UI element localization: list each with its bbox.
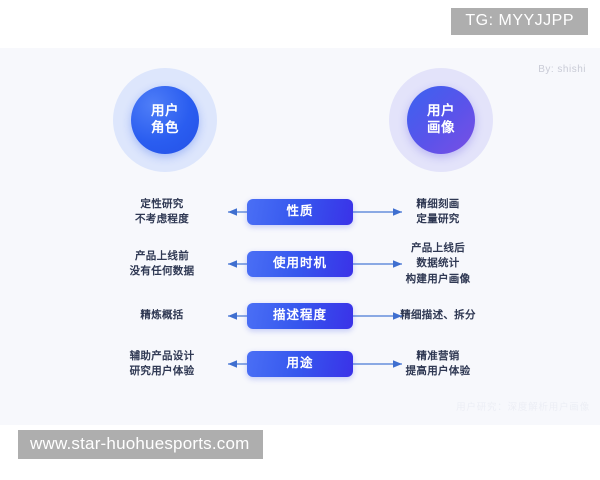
site-watermark-banner: www.star-huohuesports.com — [18, 430, 263, 459]
row-pill: 用途 — [247, 351, 353, 378]
node-left-line2: 角色 — [151, 120, 179, 137]
label-line: 产品上线前 — [96, 249, 228, 264]
node-user-persona: 用户 画像 — [398, 77, 484, 163]
comparison-row: 产品上线前 没有任何数据 使用时机 产品上线后 数据 — [0, 236, 600, 292]
label-line: 研究用户体验 — [96, 364, 228, 379]
row-pill: 使用时机 — [247, 251, 353, 278]
label-line: 精炼概括 — [96, 308, 228, 323]
node-disc-right: 用户 画像 — [407, 86, 475, 154]
row-left-label: 产品上线前 没有任何数据 — [96, 249, 228, 279]
comparison-row: 精炼概括 描述程度 精细描述、拆分 — [0, 292, 600, 340]
comparison-row: 定性研究 不考虑程度 性质 精细刻画 定量研究 — [0, 188, 600, 236]
bottom-watermark-text: 用户研究：深度解析用户画像 — [456, 399, 590, 413]
label-line: 不考虑程度 — [96, 212, 228, 227]
header-nodes: 用户 角色 用户 画像 — [0, 74, 600, 166]
label-line: 产品上线后 — [372, 241, 504, 256]
comparison-rows: 定性研究 不考虑程度 性质 精细刻画 定量研究 — [0, 188, 600, 388]
node-user-role: 用户 角色 — [122, 77, 208, 163]
row-pill: 性质 — [247, 199, 353, 226]
row-pill: 描述程度 — [247, 303, 353, 330]
label-line: 没有任何数据 — [96, 264, 228, 279]
row-left-label: 精炼概括 — [96, 308, 228, 323]
label-line: 辅助产品设计 — [96, 349, 228, 364]
node-right-line1: 用户 — [427, 103, 455, 120]
node-right-line2: 画像 — [427, 120, 455, 137]
label-line: 定性研究 — [96, 197, 228, 212]
node-disc-left: 用户 角色 — [131, 86, 199, 154]
row-left-label: 定性研究 不考虑程度 — [96, 197, 228, 227]
row-left-label: 辅助产品设计 研究用户体验 — [96, 349, 228, 379]
infographic-card: By: shishi 用户 角色 用户 画像 定性研究 不考虑程度 — [0, 48, 600, 425]
label-line: 构建用户画像 — [372, 272, 504, 287]
node-left-line1: 用户 — [151, 103, 179, 120]
telegram-watermark-banner: TG: MYYJJPP — [451, 8, 588, 35]
comparison-row: 辅助产品设计 研究用户体验 用途 精准营销 提高用户 — [0, 340, 600, 388]
